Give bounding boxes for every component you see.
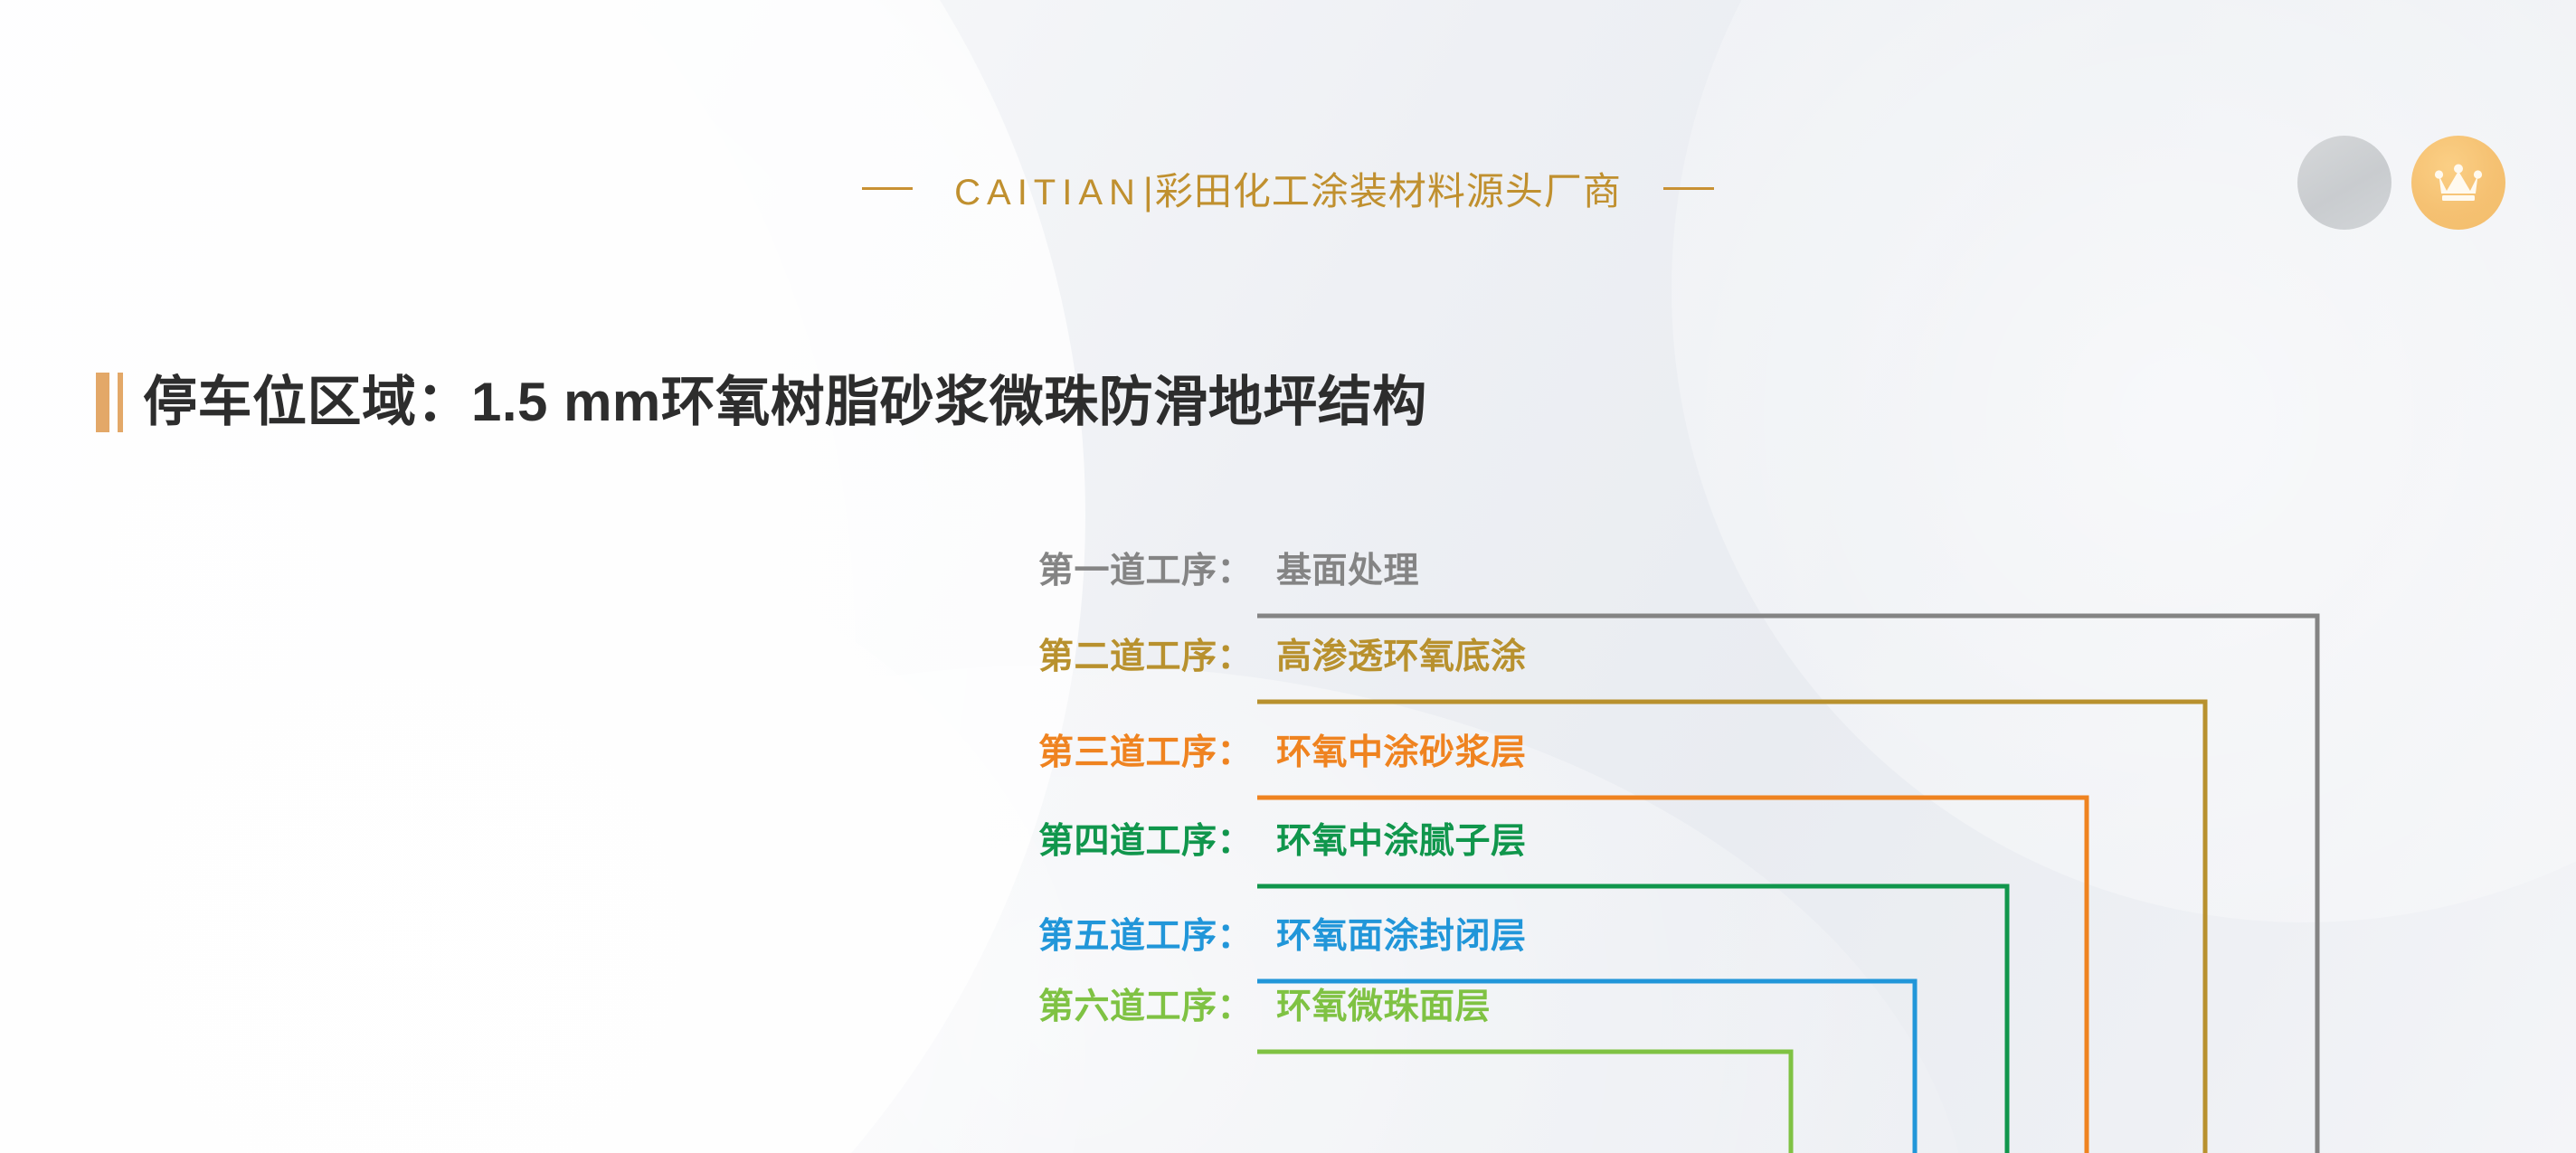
layer-bracket-line <box>1257 1052 1791 1153</box>
process-step-label: 第三道工序： <box>981 724 1253 775</box>
process-step-row[interactable]: 第二道工序： 高渗透环氧底涂 <box>981 628 1527 672</box>
process-step-list: 第一道工序： 基面处理 第二道工序： 高渗透环氧底涂 第三道工序： 环氧中涂砂浆… <box>981 543 1527 1022</box>
process-step-label: 第二道工序： <box>981 628 1253 679</box>
process-step-row[interactable]: 第三道工序： 环氧中涂砂浆层 <box>981 724 1527 768</box>
brand-chinese-name: 彩田化工涂装材料源头厂商 <box>1155 170 1622 213</box>
brand-title: CAITIAN|彩田化工涂装材料源头厂商 <box>954 161 1622 216</box>
crown-badge[interactable] <box>2411 136 2505 230</box>
process-step-row[interactable]: 第一道工序： 基面处理 <box>981 543 1527 586</box>
process-step-row[interactable]: 第四道工序： 环氧中涂腻子层 <box>981 813 1527 856</box>
process-step-value: 环氧微珠面层 <box>1276 978 1491 1029</box>
slide-canvas: CAITIAN|彩田化工涂装材料源头厂商 停车位区域：1.5 mm环氧树脂砂浆微… <box>0 0 2576 1153</box>
process-step-label: 第五道工序： <box>981 908 1253 959</box>
title-accent-marker-icon <box>96 373 123 432</box>
process-step-value: 基面处理 <box>1276 543 1419 593</box>
page-title-text: 停车位区域：1.5 mm环氧树脂砂浆微珠防滑地坪结构 <box>143 375 1427 430</box>
process-step-value: 环氧中涂砂浆层 <box>1276 724 1527 775</box>
avatar-circle-icon[interactable] <box>2297 136 2391 230</box>
brand-rule-right <box>1663 187 1714 190</box>
brand-separator: | <box>1141 170 1155 213</box>
process-step-value: 高渗透环氧底涂 <box>1276 628 1527 679</box>
process-step-label: 第一道工序： <box>981 543 1253 593</box>
process-step-value: 环氧面涂封闭层 <box>1276 908 1527 959</box>
top-right-badges <box>2297 136 2505 230</box>
crown-icon <box>2434 163 2483 203</box>
brand-rule-left <box>862 187 913 190</box>
background-arc-decoration <box>0 506 1085 1153</box>
process-step-row[interactable]: 第六道工序： 环氧微珠面层 <box>981 978 1527 1022</box>
process-step-row[interactable]: 第五道工序： 环氧面涂封闭层 <box>981 908 1527 951</box>
process-step-value: 环氧中涂腻子层 <box>1276 813 1527 864</box>
process-step-label: 第四道工序： <box>981 813 1253 864</box>
brand-latin-name: CAITIAN <box>954 173 1141 213</box>
page-title: 停车位区域：1.5 mm环氧树脂砂浆微珠防滑地坪结构 <box>96 373 1427 432</box>
brand-header: CAITIAN|彩田化工涂装材料源头厂商 <box>0 161 2576 216</box>
process-step-label: 第六道工序： <box>981 978 1253 1029</box>
